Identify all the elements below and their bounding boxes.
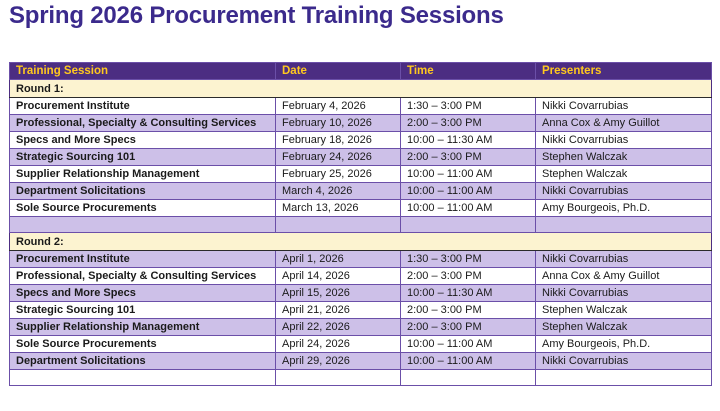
table-row[interactable]: Strategic Sourcing 101February 24, 20262… bbox=[10, 149, 712, 166]
table-row[interactable]: Sole Source ProcurementsMarch 13, 202610… bbox=[10, 200, 712, 217]
cell-time: 10:00 – 11:00 AM bbox=[401, 183, 536, 200]
cell-date: April 22, 2026 bbox=[276, 319, 401, 336]
cell-presenters bbox=[536, 217, 712, 233]
cell-time: 10:00 – 11:30 AM bbox=[401, 285, 536, 302]
cell-date: April 24, 2026 bbox=[276, 336, 401, 353]
page-title: Spring 2026 Procurement Training Session… bbox=[9, 2, 504, 30]
cell-time: 10:00 – 11:00 AM bbox=[401, 353, 536, 370]
table-spacer-row bbox=[10, 370, 712, 386]
cell-session bbox=[10, 370, 276, 386]
cell-presenters: Stephen Walczak bbox=[536, 302, 712, 319]
cell-time: 1:30 – 3:00 PM bbox=[401, 251, 536, 268]
cell-time bbox=[401, 217, 536, 233]
table-row[interactable]: Department SolicitationsMarch 4, 202610:… bbox=[10, 183, 712, 200]
cell-session bbox=[10, 217, 276, 233]
table-row[interactable]: Procurement InstituteFebruary 4, 20261:3… bbox=[10, 98, 712, 115]
cell-session: Department Solicitations bbox=[10, 353, 276, 370]
cell-time: 2:00 – 3:00 PM bbox=[401, 149, 536, 166]
column-header-time: Time bbox=[401, 63, 536, 80]
cell-date: February 18, 2026 bbox=[276, 132, 401, 149]
column-header-presenters: Presenters bbox=[536, 63, 712, 80]
cell-presenters: Nikki Covarrubias bbox=[536, 285, 712, 302]
cell-time: 1:30 – 3:00 PM bbox=[401, 98, 536, 115]
cell-session: Professional, Specialty & Consulting Ser… bbox=[10, 268, 276, 285]
cell-time: 2:00 – 3:00 PM bbox=[401, 319, 536, 336]
cell-presenters: Nikki Covarrubias bbox=[536, 132, 712, 149]
cell-session: Specs and More Specs bbox=[10, 132, 276, 149]
cell-presenters: Nikki Covarrubias bbox=[536, 251, 712, 268]
cell-time: 2:00 – 3:00 PM bbox=[401, 268, 536, 285]
cell-date: April 15, 2026 bbox=[276, 285, 401, 302]
cell-time bbox=[401, 370, 536, 386]
cell-presenters: Stephen Walczak bbox=[536, 319, 712, 336]
cell-presenters bbox=[536, 370, 712, 386]
table-row[interactable]: Professional, Specialty & Consulting Ser… bbox=[10, 115, 712, 132]
cell-presenters: Amy Bourgeois, Ph.D. bbox=[536, 200, 712, 217]
cell-time: 10:00 – 11:00 AM bbox=[401, 336, 536, 353]
table-row[interactable]: Supplier Relationship ManagementFebruary… bbox=[10, 166, 712, 183]
cell-presenters: Anna Cox & Amy Guillot bbox=[536, 268, 712, 285]
table-row[interactable]: Strategic Sourcing 101April 21, 20262:00… bbox=[10, 302, 712, 319]
cell-presenters: Stephen Walczak bbox=[536, 149, 712, 166]
cell-date: March 4, 2026 bbox=[276, 183, 401, 200]
cell-session: Department Solicitations bbox=[10, 183, 276, 200]
training-schedule-table: Training Session Date Time Presenters Ro… bbox=[9, 62, 712, 386]
table-header-row: Training Session Date Time Presenters bbox=[10, 63, 712, 80]
cell-presenters: Nikki Covarrubias bbox=[536, 98, 712, 115]
table-row[interactable]: Department SolicitationsApril 29, 202610… bbox=[10, 353, 712, 370]
table-row[interactable]: Sole Source ProcurementsApril 24, 202610… bbox=[10, 336, 712, 353]
cell-presenters: Amy Bourgeois, Ph.D. bbox=[536, 336, 712, 353]
cell-date: February 10, 2026 bbox=[276, 115, 401, 132]
cell-presenters: Stephen Walczak bbox=[536, 166, 712, 183]
cell-time: 10:00 – 11:30 AM bbox=[401, 132, 536, 149]
cell-session: Sole Source Procurements bbox=[10, 200, 276, 217]
cell-session: Procurement Institute bbox=[10, 98, 276, 115]
column-header-session: Training Session bbox=[10, 63, 276, 80]
cell-time: 10:00 – 11:00 AM bbox=[401, 200, 536, 217]
cell-date: February 24, 2026 bbox=[276, 149, 401, 166]
column-header-date: Date bbox=[276, 63, 401, 80]
cell-time: 10:00 – 11:00 AM bbox=[401, 166, 536, 183]
table-row[interactable]: Professional, Specialty & Consulting Ser… bbox=[10, 268, 712, 285]
cell-time: 2:00 – 3:00 PM bbox=[401, 302, 536, 319]
cell-date: April 29, 2026 bbox=[276, 353, 401, 370]
cell-session: Professional, Specialty & Consulting Ser… bbox=[10, 115, 276, 132]
table-body: Round 1:Procurement InstituteFebruary 4,… bbox=[10, 80, 712, 386]
cell-time: 2:00 – 3:00 PM bbox=[401, 115, 536, 132]
cell-session: Supplier Relationship Management bbox=[10, 319, 276, 336]
cell-date: February 4, 2026 bbox=[276, 98, 401, 115]
cell-date: February 25, 2026 bbox=[276, 166, 401, 183]
cell-session: Strategic Sourcing 101 bbox=[10, 149, 276, 166]
cell-date: April 1, 2026 bbox=[276, 251, 401, 268]
cell-presenters: Anna Cox & Amy Guillot bbox=[536, 115, 712, 132]
round-group-row: Round 2: bbox=[10, 233, 712, 251]
round-group-label: Round 1: bbox=[10, 80, 712, 98]
table-row[interactable]: Supplier Relationship ManagementApril 22… bbox=[10, 319, 712, 336]
cell-session: Strategic Sourcing 101 bbox=[10, 302, 276, 319]
round-group-row: Round 1: bbox=[10, 80, 712, 98]
cell-presenters: Nikki Covarrubias bbox=[536, 183, 712, 200]
cell-date bbox=[276, 217, 401, 233]
cell-session: Specs and More Specs bbox=[10, 285, 276, 302]
cell-date: April 21, 2026 bbox=[276, 302, 401, 319]
cell-date bbox=[276, 370, 401, 386]
page-root: Spring 2026 Procurement Training Session… bbox=[0, 0, 720, 411]
table-row[interactable]: Specs and More SpecsFebruary 18, 202610:… bbox=[10, 132, 712, 149]
schedule-table-container: Training Session Date Time Presenters Ro… bbox=[9, 62, 711, 386]
table-header: Training Session Date Time Presenters bbox=[10, 63, 712, 80]
table-row[interactable]: Specs and More SpecsApril 15, 202610:00 … bbox=[10, 285, 712, 302]
cell-presenters: Nikki Covarrubias bbox=[536, 353, 712, 370]
table-row[interactable]: Procurement InstituteApril 1, 20261:30 –… bbox=[10, 251, 712, 268]
cell-session: Supplier Relationship Management bbox=[10, 166, 276, 183]
round-group-label: Round 2: bbox=[10, 233, 712, 251]
cell-date: March 13, 2026 bbox=[276, 200, 401, 217]
cell-session: Sole Source Procurements bbox=[10, 336, 276, 353]
table-spacer-row bbox=[10, 217, 712, 233]
cell-date: April 14, 2026 bbox=[276, 268, 401, 285]
cell-session: Procurement Institute bbox=[10, 251, 276, 268]
